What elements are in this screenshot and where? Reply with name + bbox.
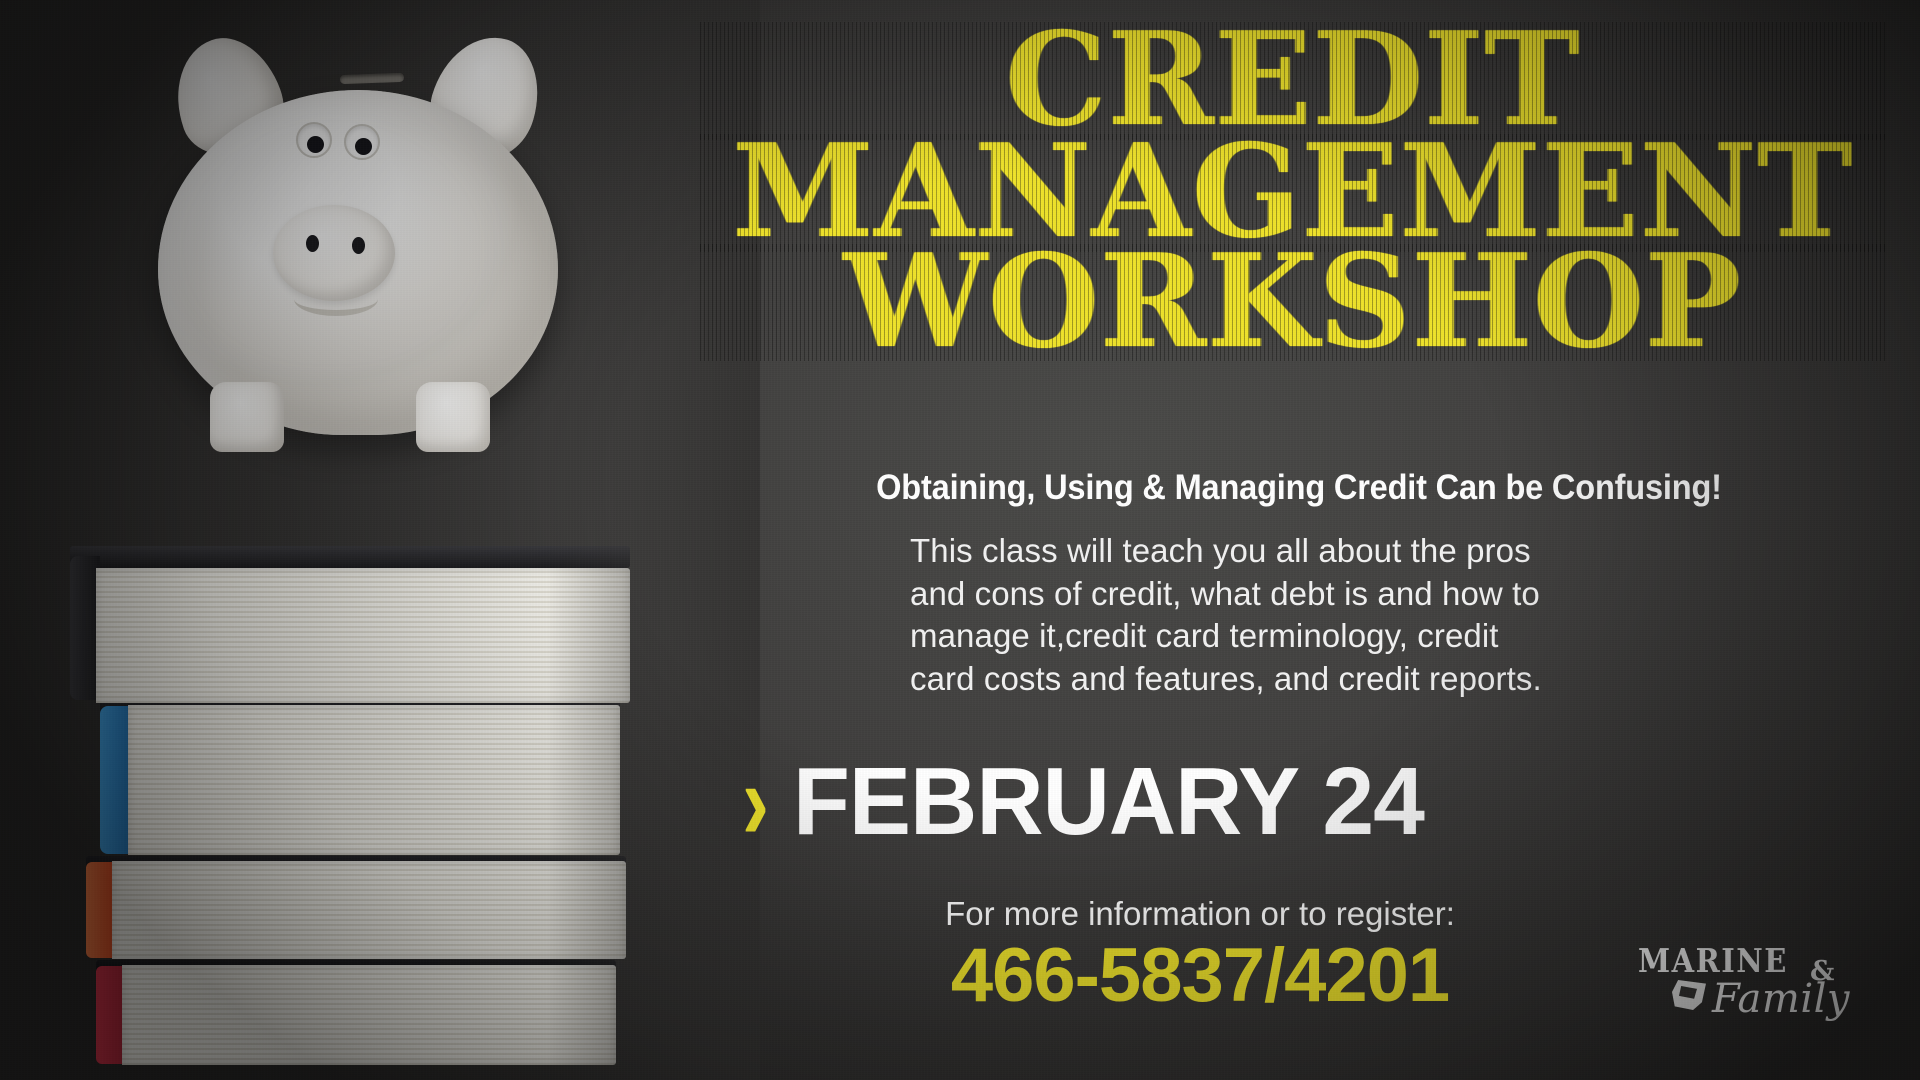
piggy-nostril-right [352, 237, 365, 254]
marine-and-family-logo: MARINE & Family [1638, 936, 1868, 1022]
piggy-eye-right [344, 124, 380, 160]
subheadline: Obtaining, Using & Managing Credit Can b… [742, 468, 1856, 508]
headline: CREDIT MANAGEMENT WORKSHOP [700, 22, 1885, 361]
book-pages [128, 705, 620, 855]
book-red [96, 960, 616, 1070]
piggy-nostril-left [306, 235, 319, 252]
logo-text-marine: MARINE [1638, 942, 1788, 980]
body-line: manage it,credit card terminology, credi… [910, 615, 1830, 658]
register-label: For more information or to register: [700, 895, 1700, 933]
event-date: FEBRUARY 24 [793, 754, 1424, 850]
book-pages [96, 568, 630, 703]
piggy-eye-left [296, 122, 332, 158]
piggy-coin-slot [340, 73, 404, 84]
book-black [70, 546, 630, 708]
book-pages [122, 965, 616, 1065]
body-description: This class will teach you all about the … [730, 530, 1830, 700]
book-cover [70, 546, 630, 568]
book-blue [100, 700, 620, 860]
body-line: and cons of credit, what debt is and how… [910, 573, 1830, 616]
piggy-bank [148, 30, 568, 460]
piggy-leg-left [210, 382, 284, 452]
body-line: This class will teach you all about the … [910, 530, 1830, 573]
headline-line-3: WORKSHOP [700, 244, 1885, 362]
chevron-right-icon: › [742, 747, 769, 856]
logo-text-family: Family [1712, 976, 1850, 1022]
logo-emblem-icon [1672, 980, 1706, 1010]
piggy-mouth [294, 282, 378, 316]
piggy-bank-on-books-photo [0, 0, 700, 1080]
event-date-row: › FEBRUARY 24 [700, 750, 1920, 854]
phone-number: 466-5837/4201 [700, 936, 1700, 1016]
book-pages [112, 861, 626, 959]
body-line: card costs and features, and credit repo… [910, 658, 1830, 701]
piggy-leg-right [416, 382, 490, 452]
book-orange [86, 856, 626, 964]
poster-canvas: CREDIT MANAGEMENT WORKSHOP Obtaining, Us… [0, 0, 1920, 1080]
poster-content: CREDIT MANAGEMENT WORKSHOP Obtaining, Us… [700, 0, 1920, 1080]
